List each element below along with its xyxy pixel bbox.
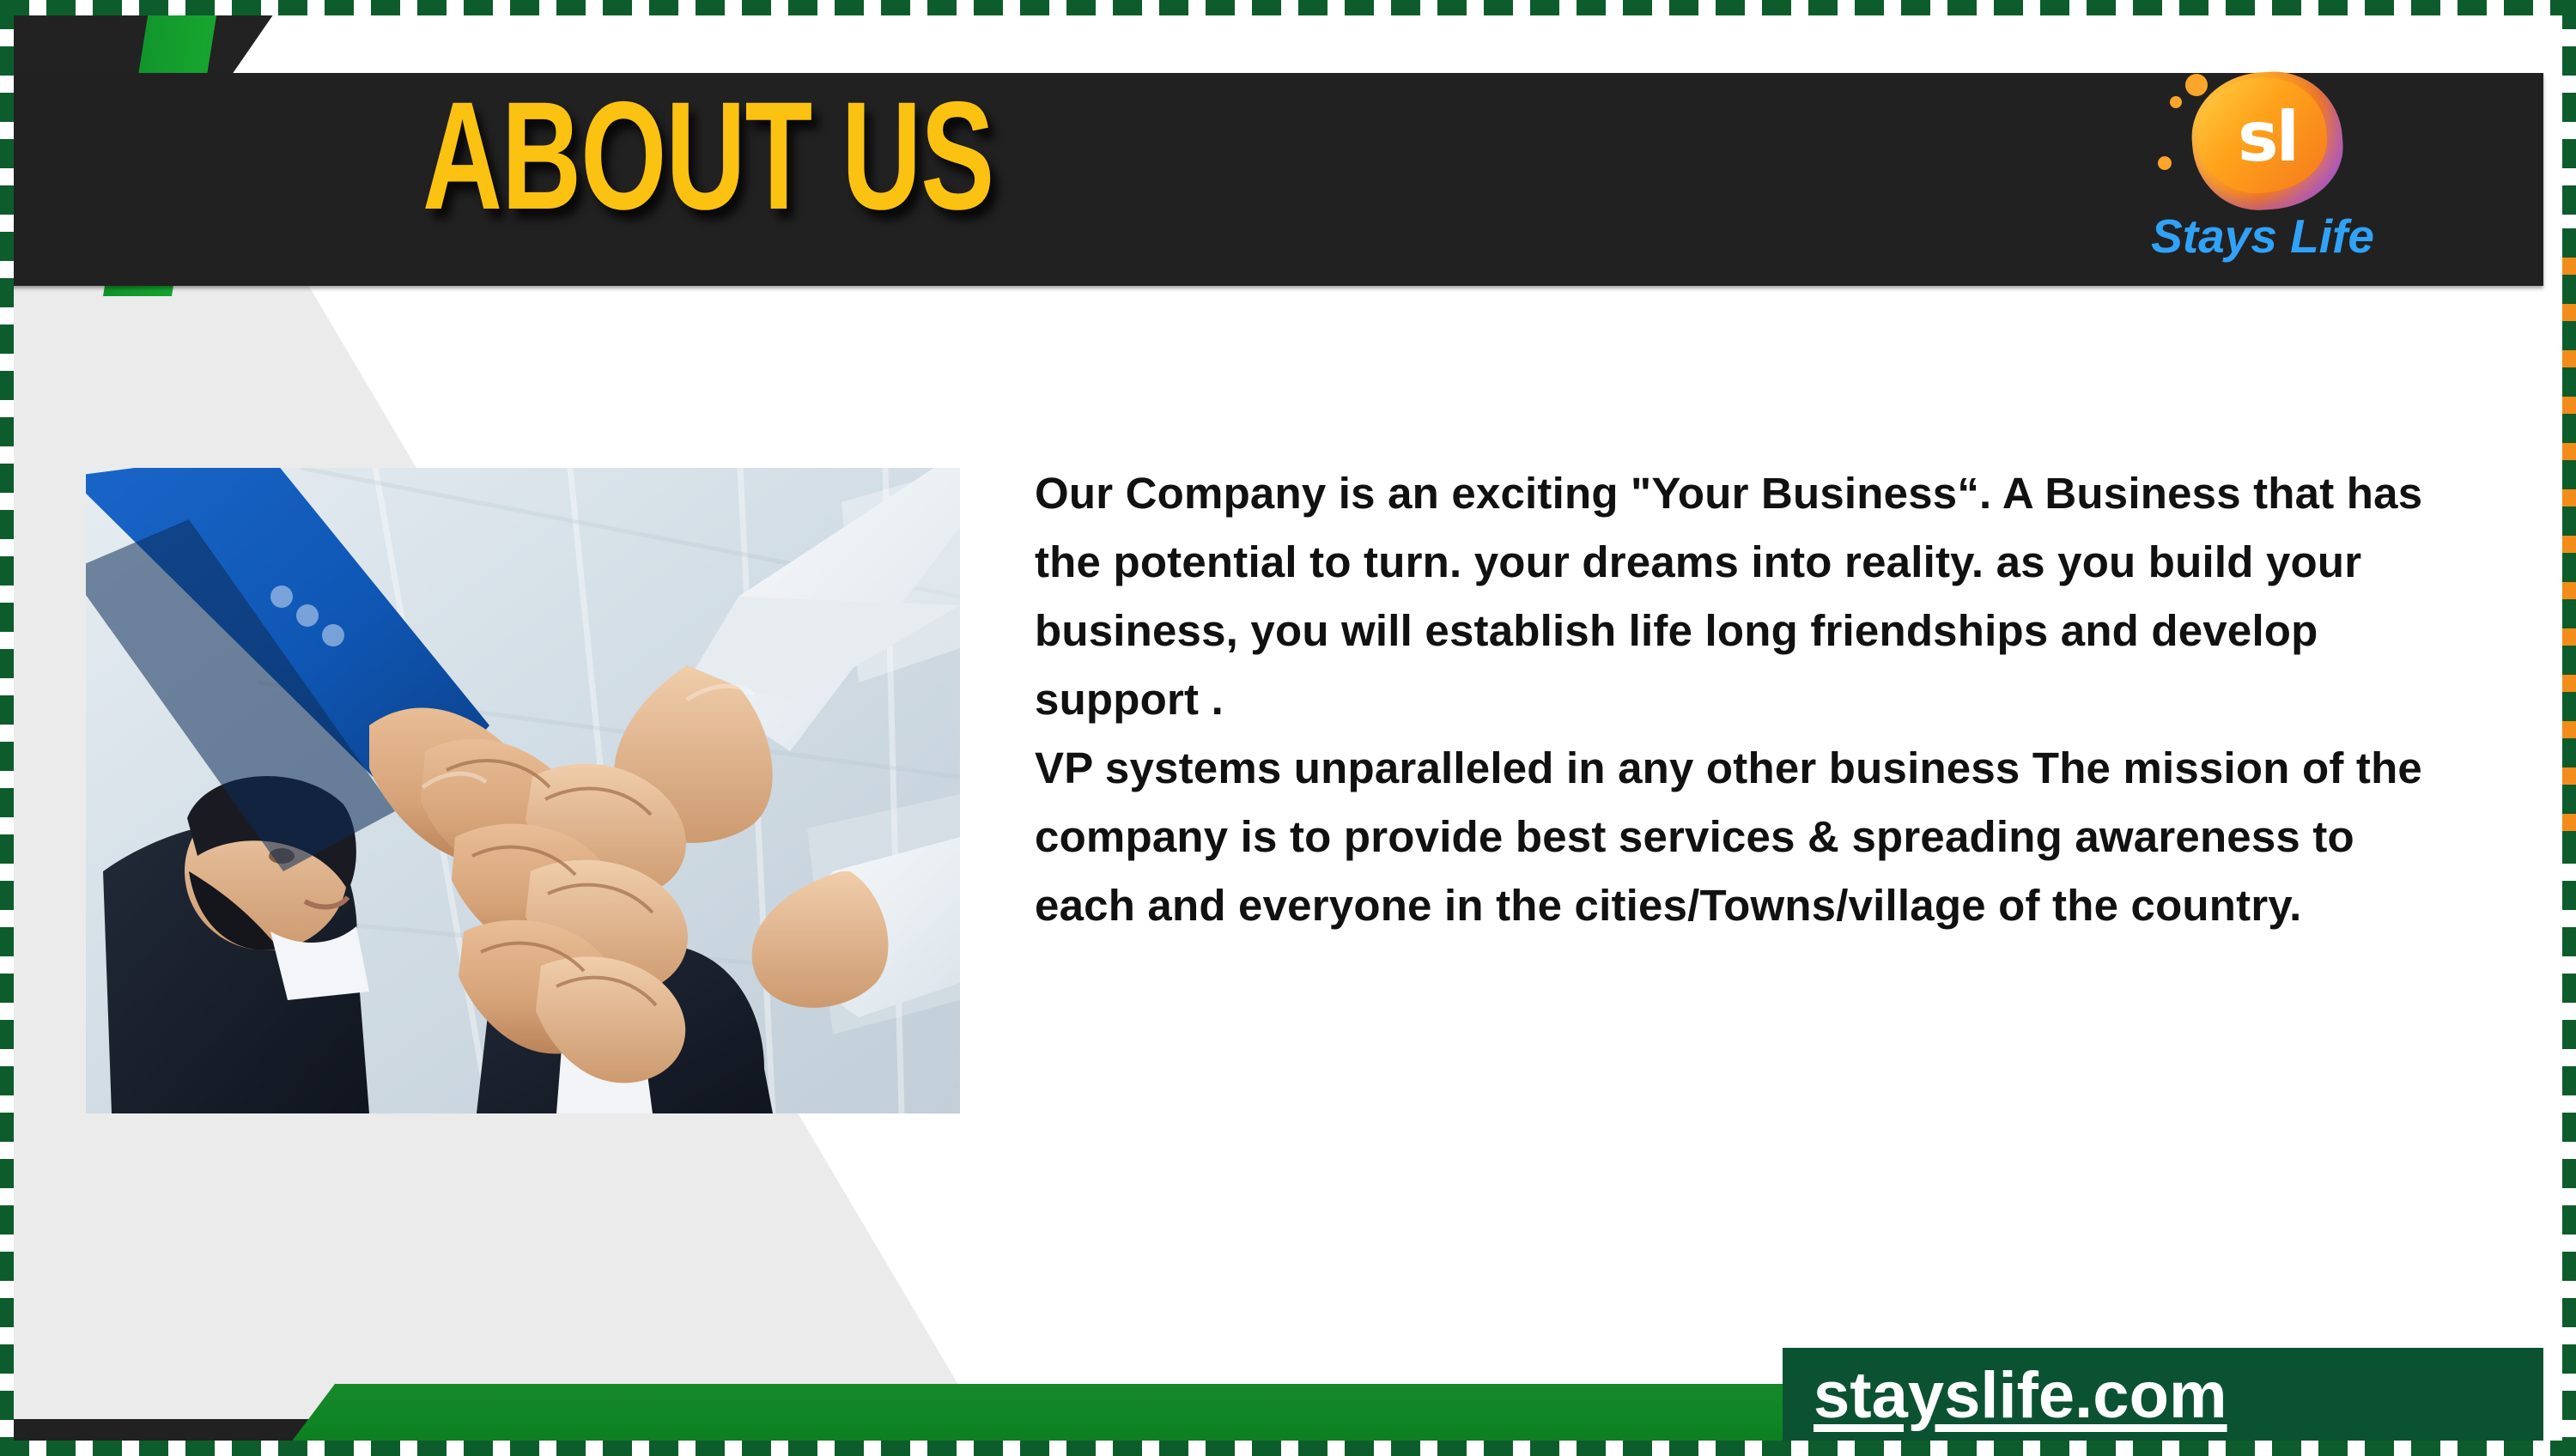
frame-top-dashed-border (0, 0, 2576, 15)
frame-left-dashed-border (0, 0, 14, 1456)
brand-logo[interactable]: sl Stays Life (2151, 67, 2374, 277)
slide-canvas: ABOUT US sl Stays Life (0, 0, 2576, 1456)
brand-name: Stays Life (2151, 213, 2374, 260)
about-paragraph-1: Our Company is an exciting "Your Busines… (1035, 459, 2460, 734)
logo-dot-tiny-icon (2158, 156, 2172, 170)
teamwork-hands-photo (86, 468, 960, 1113)
photo-illustration (86, 468, 960, 1113)
about-us-body: Our Company is an exciting "Your Busines… (1035, 459, 2460, 940)
footer-website-box[interactable]: stayslife.com (1783, 1348, 2543, 1453)
website-link[interactable]: stayslife.com (1814, 1363, 2227, 1429)
page-title: ABOUT US (422, 79, 993, 233)
frame-right-orange-accent (2562, 228, 2576, 852)
frame-bottom-dashed-border (0, 1441, 2576, 1456)
about-paragraph-2: VP systems unparalleled in any other bus… (1035, 734, 2460, 940)
logo-dot-small-icon (2170, 96, 2182, 108)
logo-sl-letters: sl (2192, 103, 2342, 172)
logo-dot-large-icon (2185, 74, 2208, 96)
stays-life-mark-icon: sl (2192, 72, 2342, 209)
